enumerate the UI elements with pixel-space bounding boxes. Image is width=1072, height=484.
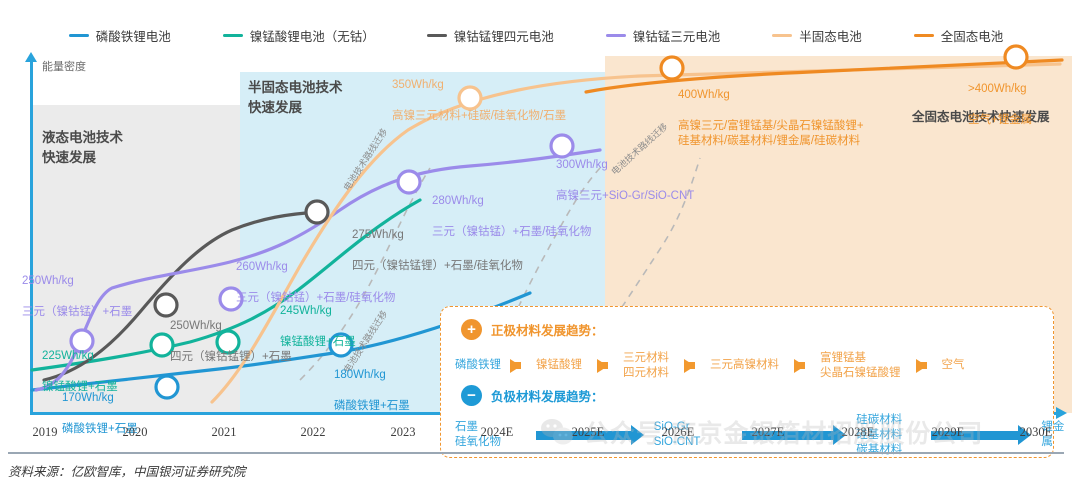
legend-item-ncm: 镍钴锰三元电池 (606, 26, 721, 45)
legend-label-semi-solid: 半固态电池 (799, 26, 862, 45)
annotation-245-material: 镍锰酸锂+石墨 (280, 335, 356, 351)
annotation-400-plus: >400Wh/kg 空气+锂金属 (968, 66, 1032, 144)
annotation-275-material: 四元（镍钴锰锂）+石墨/硅氧化物 (352, 259, 523, 275)
arrow-right-icon-c3 (684, 359, 695, 373)
legend-item-quaternary: 镍钴锰锂四元电池 (427, 26, 554, 45)
annotation-170-value: 170Wh/kg (62, 391, 138, 407)
annotation-250-quad-material: 四元（镍钴锰锂）+石墨 (170, 350, 292, 366)
xtick-2020: 2020 (123, 425, 148, 440)
annotation-250-ncm-material: 三元（镍钴锰）+石墨 (22, 305, 132, 321)
legend-item-all-solid: 全固态电池 (914, 26, 1004, 45)
legend-label-quaternary: 镍钴锰锂四元电池 (454, 26, 554, 45)
legend-label-lnmo: 镍锰酸锂电池（无钴） (250, 26, 375, 45)
annotation-350-value: 350Wh/kg (392, 78, 566, 94)
annotation-400-material: 高镍三元/富锂锰基/尖晶石镍锰酸锂+ 硅基材料/碳基材料/锂金属/硅碳材料 (678, 119, 864, 150)
legend-label-ncm: 镍钴锰三元电池 (633, 26, 721, 45)
xtick-2025E: 2025E (572, 425, 605, 440)
annotation-300: 300Wh/kg 高镍三元+SiO-Gr/SiO-CNT (556, 142, 694, 220)
xtick-2022: 2022 (301, 425, 326, 440)
cathode-node-5: 空气 (942, 358, 965, 373)
legend-swatch-ncm (606, 34, 626, 37)
legend-swatch-lfp (69, 34, 89, 37)
cathode-header: + 正极材料发展趋势： (461, 319, 604, 340)
marker-quad-2023 (306, 201, 328, 223)
marker-solid-2030 (1005, 46, 1027, 68)
xtick-2023: 2023 (391, 425, 416, 440)
marker-ncm-2023 (398, 171, 420, 193)
legend-swatch-all-solid (914, 34, 934, 37)
arrow-right-icon-c4 (794, 359, 805, 373)
xtick-2027E: 2027E (752, 425, 785, 440)
cathode-node-0: 磷酸铁锂 (455, 358, 501, 373)
xtick-2026E: 2026E (662, 425, 695, 440)
legend-item-lnmo: 镍锰酸锂电池（无钴） (223, 26, 375, 45)
arrow-right-icon-c5 (916, 359, 927, 373)
annotation-250-ncm: 250Wh/kg 三元（镍钴锰）+石墨 (22, 258, 132, 336)
cathode-node-4: 富锂锰基 尖晶石镍锰酸锂 (820, 351, 901, 381)
legend-label-all-solid: 全固态电池 (941, 26, 1004, 45)
arrow-right-icon-c1 (510, 359, 521, 373)
xtick-2024E: 2024E (481, 425, 514, 440)
xtick-2028E: 2028E (842, 425, 875, 440)
annotation-180-material: 磷酸铁锂+石墨 (334, 399, 410, 415)
annotation-400-plus-material: 空气+锂金属 (968, 113, 1032, 129)
annotation-400: 400Wh/kg 高镍三元/富锂锰基/尖晶石镍锰酸锂+ 硅基材料/碳基材料/锂金… (678, 72, 864, 165)
legend-swatch-semi-solid (772, 34, 792, 37)
annotation-180-value: 180Wh/kg (334, 368, 410, 384)
plus-icon: + (461, 319, 482, 340)
cathode-chain: 磷酸铁锂 镍锰酸锂 三元材料 四元材料 三元高镍材料 富锂锰基 尖晶石镍锰酸锂 … (455, 351, 965, 381)
cathode-node-2: 三元材料 四元材料 (623, 351, 669, 381)
minus-icon: − (461, 385, 482, 406)
legend-item-lfp: 磷酸铁锂电池 (69, 26, 171, 45)
xtick-2021: 2021 (212, 425, 237, 440)
annotation-400-value: 400Wh/kg (678, 88, 864, 104)
xtick-2030E: 2030E (1020, 425, 1053, 440)
annotation-180: 180Wh/kg 磷酸铁锂+石墨 (334, 352, 410, 430)
annotation-350-material: 高镍三元材料+硅碳/硅氧化物/石墨 (392, 109, 566, 125)
footer-divider (8, 452, 1064, 454)
legend-item-semi-solid: 半固态电池 (772, 26, 862, 45)
chart-root: 磷酸铁锂电池 镍锰酸锂电池（无钴） 镍钴锰锂四元电池 镍钴锰三元电池 半固态电池… (0, 0, 1072, 484)
annotation-300-material: 高镍三元+SiO-Gr/SiO-CNT (556, 189, 694, 205)
chart-legend: 磷酸铁锂电池 镍锰酸锂电池（无钴） 镍钴锰锂四元电池 镍钴锰三元电池 半固态电池… (0, 24, 1072, 46)
x-axis-ticks: 2019 2020 2021 2022 2023 2024E 2025E 202… (0, 425, 1072, 445)
xtick-2029E: 2029E (932, 425, 965, 440)
annotation-300-value: 300Wh/kg (556, 158, 694, 174)
legend-label-lfp: 磷酸铁锂电池 (96, 26, 171, 45)
source-note: 资料来源：亿欧智库，中国银河证券研究院 (8, 461, 246, 480)
legend-swatch-quaternary (427, 34, 447, 37)
anode-header: − 负极材料发展趋势： (461, 385, 604, 406)
legend-swatch-lnmo (223, 34, 243, 37)
annotation-400-plus-value: >400Wh/kg (968, 82, 1032, 98)
annotation-250-ncm-value: 250Wh/kg (22, 274, 132, 290)
anode-title: 负极材料发展趋势： (491, 386, 604, 405)
annotation-225-value: 225Wh/kg (42, 349, 118, 365)
annotation-350: 350Wh/kg 高镍三元材料+硅碳/硅氧化物/石墨 (392, 62, 566, 140)
annotation-280-material: 三元（镍钴锰）+石墨/硅氧化物 (432, 225, 591, 241)
arrow-right-icon-c2 (597, 359, 608, 373)
plot-area: 液态电池技术 快速发展 半固态电池技术 快速发展 全固态电池技术快速发展 能量密… (0, 50, 1072, 420)
cathode-title: 正极材料发展趋势： (491, 320, 604, 339)
cathode-node-3: 三元高镍材料 (710, 358, 779, 373)
xtick-2019: 2019 (33, 425, 58, 440)
annotation-260-material: 三元（镍钴锰）+石墨/硅氧化物 (236, 291, 395, 307)
cathode-node-1: 镍锰酸锂 (536, 358, 582, 373)
